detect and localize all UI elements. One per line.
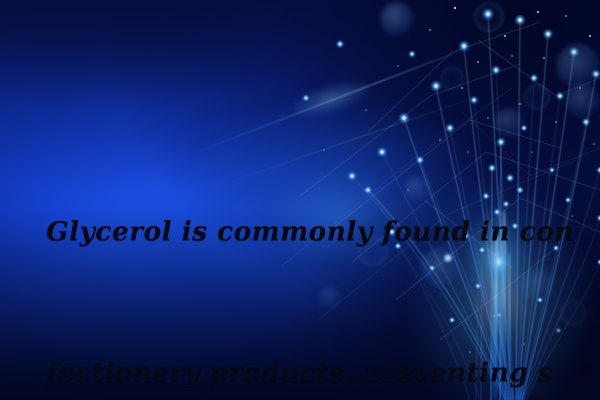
- image-banner: Glycerol is commonly found in con fectio…: [0, 0, 600, 400]
- bokeh-circle: [556, 44, 600, 88]
- bokeh-circle: [566, 84, 600, 118]
- bokeh-circle: [380, 2, 414, 36]
- caption-text: Glycerol is commonly found in con fectio…: [46, 114, 586, 400]
- bokeh-circle: [524, 84, 550, 110]
- caption-line-2: fectionery products, preventing s: [46, 349, 586, 396]
- caption-line-1: Glycerol is commonly found in con: [46, 208, 586, 255]
- bokeh-circle: [474, 2, 504, 32]
- bokeh-circle: [440, 66, 464, 90]
